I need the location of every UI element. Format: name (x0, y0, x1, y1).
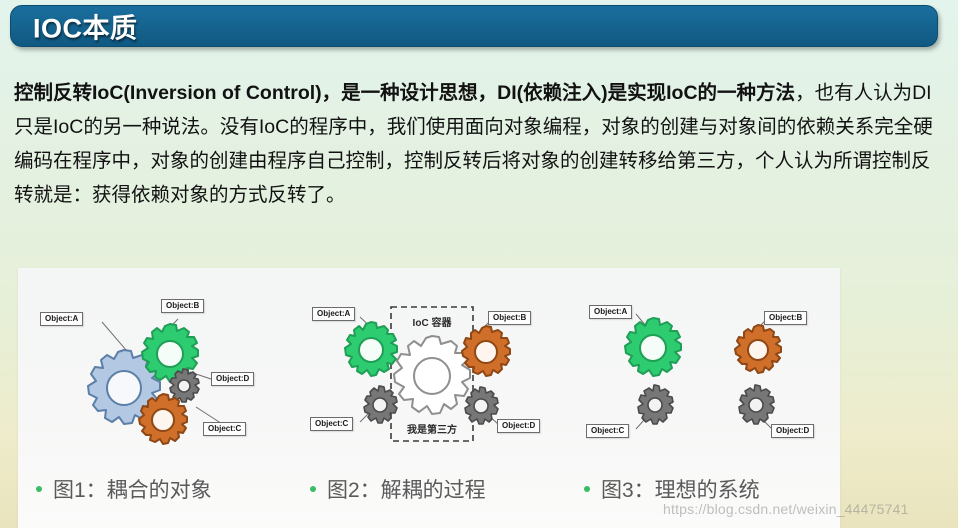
object-label-c: Object:C (203, 422, 246, 436)
figure-card: Object:A Object:B Object:C Object:D (18, 268, 840, 528)
body-paragraph: 控制反转IoC(Inversion of Control)，是一种设计思想，DI… (14, 76, 946, 212)
object-label-d: Object:D (497, 419, 540, 433)
gear-object-a (345, 322, 397, 376)
object-label-d: Object:D (211, 372, 254, 386)
figure-1: Object:A Object:B Object:C Object:D (18, 274, 292, 462)
object-label-d: Object:D (771, 424, 814, 438)
object-label-a: Object:A (40, 312, 83, 326)
gear-object-b (735, 325, 781, 373)
figures-row: Object:A Object:B Object:C Object:D (18, 274, 840, 462)
figure-3: Object:A Object:B Object:C Object:D (566, 274, 840, 462)
gear-object-d (170, 369, 199, 402)
gear-object-d (739, 385, 774, 424)
caption-figure-2: 图2：解耦的过程 (292, 464, 566, 514)
object-label-b: Object:B (764, 311, 807, 325)
figure-2: IoC 容器 我是第三方 Object:A Object:B Object:C … (292, 274, 566, 462)
slide-title-bar: IOC本质 (10, 5, 938, 47)
object-label-b: Object:B (161, 299, 204, 313)
bullet-icon (584, 486, 590, 492)
paragraph-lead: 控制反转IoC(Inversion of Control)，是一种设计思想，DI… (14, 82, 795, 104)
caption-3-label: 图3：理想的系统 (601, 474, 760, 504)
gear-object-c (364, 386, 397, 423)
page-title: IOC本质 (33, 7, 138, 46)
caption-figure-1: 图1：耦合的对象 (18, 464, 292, 514)
watermark: https://blog.csdn.net/weixin_44475741 (663, 501, 909, 517)
gear-object-d (465, 387, 498, 424)
object-label-b: Object:B (488, 311, 531, 325)
bullet-icon (310, 486, 316, 492)
caption-2-label: 图2：解耦的过程 (327, 474, 486, 504)
ioc-container-top-label: IoC 容器 (413, 314, 452, 329)
caption-1-label: 图1：耦合的对象 (53, 474, 212, 504)
gear-object-a (625, 318, 681, 376)
gear-ioc-container (394, 336, 470, 414)
object-label-a: Object:A (312, 307, 355, 321)
object-label-a: Object:A (589, 305, 632, 319)
gear-object-c (638, 385, 673, 424)
object-label-c: Object:C (310, 417, 353, 431)
object-label-c: Object:C (586, 424, 629, 438)
bullet-icon (36, 486, 42, 492)
figure-1-canvas (18, 274, 292, 462)
ioc-container-bottom-label: 我是第三方 (407, 421, 457, 436)
